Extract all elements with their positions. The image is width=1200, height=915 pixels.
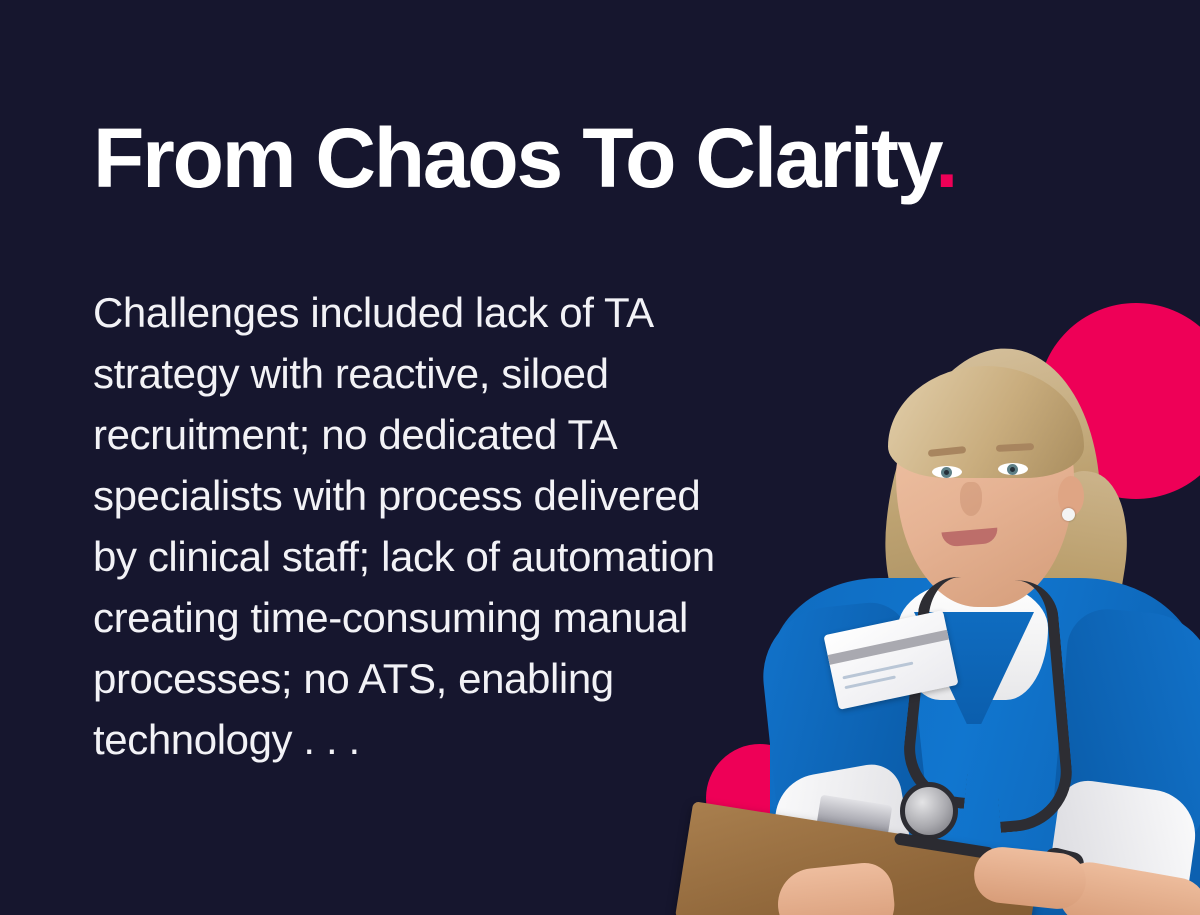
page-title-text: From Chaos To Clarity	[93, 111, 935, 205]
nose	[960, 482, 982, 516]
promo-slide: From Chaos To Clarity. Challenges includ…	[0, 0, 1200, 915]
body-paragraph: Challenges included lack of TA strategy …	[93, 282, 723, 770]
id-badge-line	[842, 662, 913, 680]
page-title: From Chaos To Clarity.	[93, 116, 956, 200]
stethoscope-chestpiece	[900, 782, 958, 840]
healthcare-worker-photo	[660, 330, 1200, 915]
eye-right	[998, 463, 1028, 475]
id-badge-line	[844, 675, 895, 689]
earring	[1062, 508, 1075, 521]
page-title-accent-period: .	[935, 111, 956, 205]
eye-left	[932, 466, 962, 478]
id-badge-stripe	[828, 630, 949, 665]
